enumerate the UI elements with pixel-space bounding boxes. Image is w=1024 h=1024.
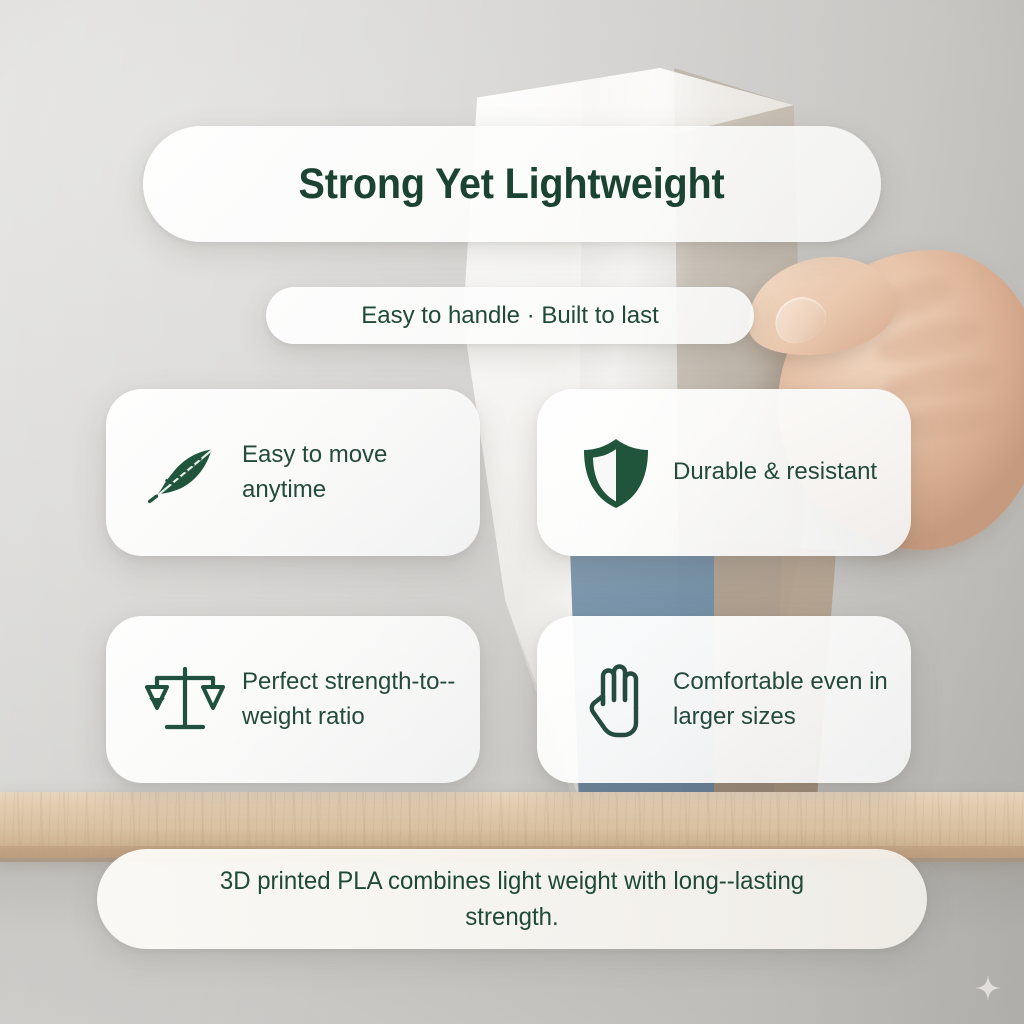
page-title: Strong Yet Lightweight — [299, 160, 725, 209]
feature-card-durable[interactable]: Durable & resistant — [537, 389, 911, 556]
feature-label: Easy to move anytime — [242, 438, 460, 506]
footer-text: 3D printed PLA combines light weight wit… — [176, 863, 848, 936]
thumbnail — [767, 289, 833, 351]
feature-label: Comfortable even in larger sizes — [673, 665, 891, 733]
feature-label: Durable & resistant — [673, 455, 877, 489]
page-subtitle: Easy to handle · Built to last — [361, 302, 659, 330]
footer-banner: 3D printed PLA combines light weight wit… — [97, 849, 927, 949]
infographic-canvas: Strong Yet Lightweight Easy to handle · … — [0, 0, 1024, 1024]
feather-icon — [142, 430, 228, 516]
shield-icon — [573, 430, 659, 516]
feature-card-easy-to-move[interactable]: Easy to move anytime — [106, 389, 480, 556]
feature-card-strength-ratio[interactable]: Perfect strength-to--weight ratio — [106, 616, 480, 783]
subtitle-banner: Easy to handle · Built to last — [266, 287, 754, 344]
hand-icon — [573, 657, 659, 743]
balance-scale-icon — [142, 657, 228, 743]
title-banner: Strong Yet Lightweight — [143, 126, 881, 242]
feature-label: Perfect strength-to--weight ratio — [242, 665, 460, 733]
sparkle-icon — [975, 975, 1001, 1001]
feature-card-comfortable[interactable]: Comfortable even in larger sizes — [537, 616, 911, 783]
